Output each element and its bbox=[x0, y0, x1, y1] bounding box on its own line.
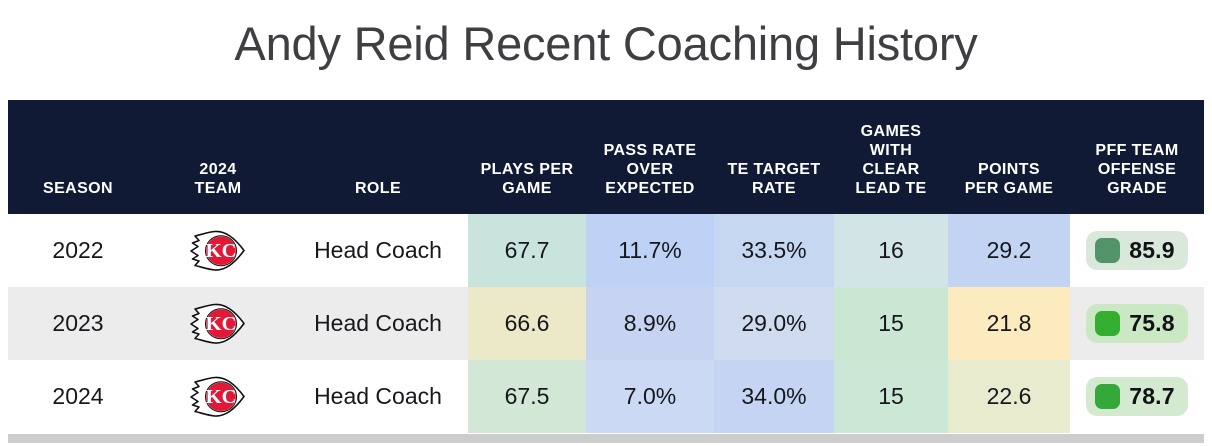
grade-value: 78.7 bbox=[1129, 385, 1175, 408]
kansas-city-chiefs-logo: KC bbox=[148, 301, 288, 347]
table-row[interactable]: 2024KCHead Coach67.57.0%34.0%1522.678.7 bbox=[8, 360, 1204, 433]
status-badge: 78.7 bbox=[1086, 377, 1188, 416]
value-games-with-clear-lead-te: 15 bbox=[834, 287, 948, 360]
kansas-city-chiefs-logo: KC bbox=[148, 228, 288, 274]
table-row[interactable]: 2023KCHead Coach66.68.9%29.0%1521.875.8 bbox=[8, 287, 1204, 360]
value-te-target-rate: 29.0% bbox=[714, 287, 834, 360]
cell-season: 2023 bbox=[8, 287, 148, 360]
grade-color-swatch bbox=[1095, 384, 1120, 409]
column-header-team[interactable]: 2024TEAM bbox=[148, 100, 288, 214]
cell-games-with-clear-lead-te: 15 bbox=[834, 287, 948, 360]
cell-pass-rate-over-expected: 7.0% bbox=[586, 360, 714, 433]
cell-games-with-clear-lead-te: 15 bbox=[834, 360, 948, 433]
cell-season: 2024 bbox=[8, 360, 148, 433]
svg-text:KC: KC bbox=[206, 240, 237, 262]
stats-table-container: SEASON 2024TEAM ROLE PLAYS PERGAME PASS … bbox=[8, 100, 1204, 434]
column-header-pass-rate-over-expected[interactable]: PASS RATEOVEREXPECTED bbox=[586, 100, 714, 214]
status-badge: 75.8 bbox=[1086, 304, 1188, 343]
column-header-plays-per-game[interactable]: PLAYS PERGAME bbox=[468, 100, 586, 214]
grade-color-swatch bbox=[1095, 238, 1120, 263]
cell-pass-rate-over-expected: 11.7% bbox=[586, 214, 714, 287]
cell-plays-per-game: 67.5 bbox=[468, 360, 586, 433]
value-te-target-rate: 33.5% bbox=[714, 214, 834, 287]
coaching-history-table: SEASON 2024TEAM ROLE PLAYS PERGAME PASS … bbox=[8, 100, 1204, 433]
cell-team: KC bbox=[148, 360, 288, 433]
column-header-games-with-clear-lead-te[interactable]: GAMESWITHCLEARLEAD TE bbox=[834, 100, 948, 214]
cell-role: Head Coach bbox=[288, 360, 468, 433]
cell-team: KC bbox=[148, 214, 288, 287]
cell-points-per-game: 29.2 bbox=[948, 214, 1070, 287]
value-plays-per-game: 66.6 bbox=[468, 287, 586, 360]
column-header-role[interactable]: ROLE bbox=[288, 100, 468, 214]
cell-role: Head Coach bbox=[288, 214, 468, 287]
cell-plays-per-game: 66.6 bbox=[468, 287, 586, 360]
column-header-points-per-game[interactable]: POINTSPER GAME bbox=[948, 100, 1070, 214]
page-root: Andy Reid Recent Coaching History SEASON… bbox=[0, 0, 1212, 446]
value-points-per-game: 29.2 bbox=[948, 214, 1070, 287]
value-plays-per-game: 67.7 bbox=[468, 214, 586, 287]
cell-season: 2022 bbox=[8, 214, 148, 287]
value-plays-per-game: 67.5 bbox=[468, 360, 586, 433]
value-points-per-game: 21.8 bbox=[948, 287, 1070, 360]
cell-points-per-game: 21.8 bbox=[948, 287, 1070, 360]
cell-te-target-rate: 34.0% bbox=[714, 360, 834, 433]
cell-pff-team-offense-grade: 78.7 bbox=[1070, 360, 1204, 433]
value-pass-rate-over-expected: 8.9% bbox=[586, 287, 714, 360]
grade-color-swatch bbox=[1095, 311, 1120, 336]
cell-pass-rate-over-expected: 8.9% bbox=[586, 287, 714, 360]
grade-value: 85.9 bbox=[1129, 239, 1175, 262]
cell-te-target-rate: 33.5% bbox=[714, 214, 834, 287]
value-te-target-rate: 34.0% bbox=[714, 360, 834, 433]
status-badge: 85.9 bbox=[1086, 231, 1188, 270]
value-points-per-game: 22.6 bbox=[948, 360, 1070, 433]
value-pass-rate-over-expected: 7.0% bbox=[586, 360, 714, 433]
value-games-with-clear-lead-te: 15 bbox=[834, 360, 948, 433]
column-header-pff-team-offense-grade[interactable]: PFF TEAMOFFENSEGRADE bbox=[1070, 100, 1204, 214]
grade-value: 75.8 bbox=[1129, 312, 1175, 335]
cell-team: KC bbox=[148, 287, 288, 360]
value-pass-rate-over-expected: 11.7% bbox=[586, 214, 714, 287]
horizontal-scrollbar[interactable] bbox=[8, 434, 1204, 443]
table-row[interactable]: 2022KCHead Coach67.711.7%33.5%1629.285.9 bbox=[8, 214, 1204, 287]
table-body: 2022KCHead Coach67.711.7%33.5%1629.285.9… bbox=[8, 214, 1204, 433]
cell-pff-team-offense-grade: 75.8 bbox=[1070, 287, 1204, 360]
cell-te-target-rate: 29.0% bbox=[714, 287, 834, 360]
cell-plays-per-game: 67.7 bbox=[468, 214, 586, 287]
cell-points-per-game: 22.6 bbox=[948, 360, 1070, 433]
svg-text:KC: KC bbox=[206, 313, 237, 335]
cell-games-with-clear-lead-te: 16 bbox=[834, 214, 948, 287]
cell-role: Head Coach bbox=[288, 287, 468, 360]
kansas-city-chiefs-logo: KC bbox=[148, 374, 288, 420]
svg-text:KC: KC bbox=[206, 386, 237, 408]
table-header: SEASON 2024TEAM ROLE PLAYS PERGAME PASS … bbox=[8, 100, 1204, 214]
value-games-with-clear-lead-te: 16 bbox=[834, 214, 948, 287]
page-title: Andy Reid Recent Coaching History bbox=[0, 14, 1212, 74]
table-header-row: SEASON 2024TEAM ROLE PLAYS PERGAME PASS … bbox=[8, 100, 1204, 214]
column-header-season[interactable]: SEASON bbox=[8, 100, 148, 214]
cell-pff-team-offense-grade: 85.9 bbox=[1070, 214, 1204, 287]
column-header-te-target-rate[interactable]: TE TARGETRATE bbox=[714, 100, 834, 214]
